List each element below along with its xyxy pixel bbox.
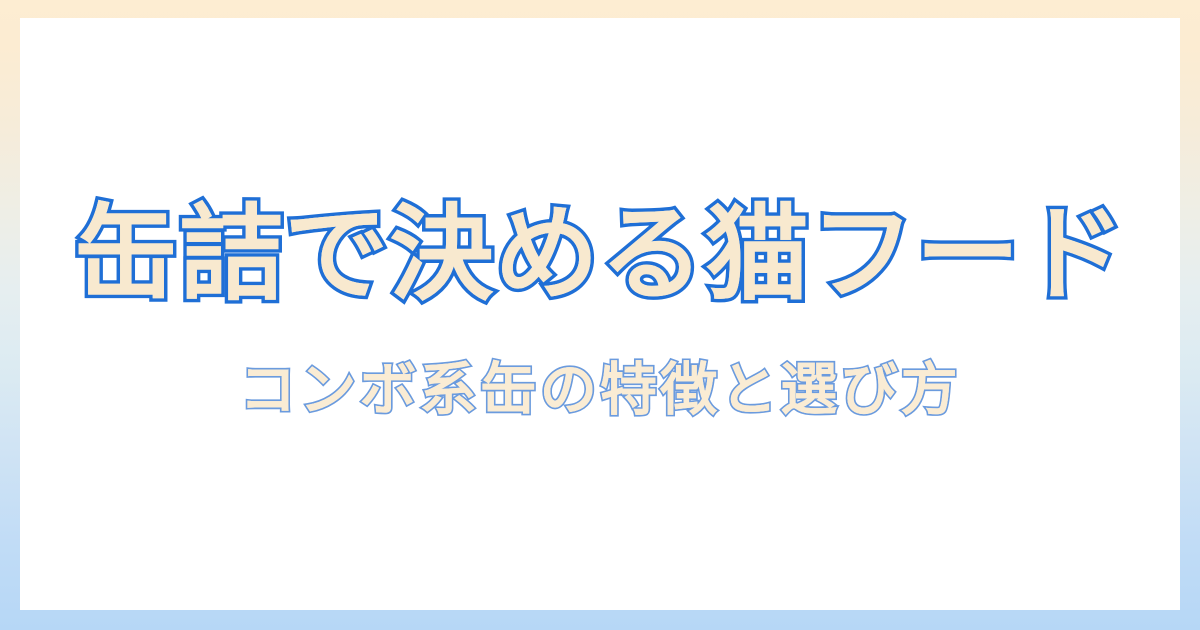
poster-canvas: 缶詰で決める猫フード 缶詰で決める猫フード コンボ系缶の特徴と選び方 コンボ系缶… [0, 0, 1200, 630]
title-area: 缶詰で決める猫フード 缶詰で決める猫フード [20, 199, 1180, 359]
subtitle-area: コンボ系缶の特徴と選び方 コンボ系缶の特徴と選び方 [20, 359, 1180, 429]
headline-block: 缶詰で決める猫フード 缶詰で決める猫フード コンボ系缶の特徴と選び方 コンボ系缶… [20, 18, 1180, 610]
page-title-fill: 缶詰で決める猫フード [20, 199, 1180, 309]
page-subtitle: コンボ系缶の特徴と選び方 コンボ系缶の特徴と選び方 [20, 359, 1180, 429]
page-subtitle-fill: コンボ系缶の特徴と選び方 [20, 359, 1180, 422]
page-title: 缶詰で決める猫フード 缶詰で決める猫フード [20, 199, 1180, 317]
content-card: 缶詰で決める猫フード 缶詰で決める猫フード コンボ系缶の特徴と選び方 コンボ系缶… [20, 18, 1180, 610]
